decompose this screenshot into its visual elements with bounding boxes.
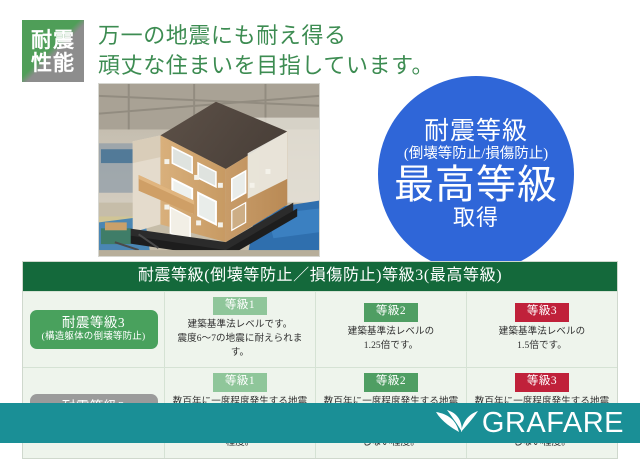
grade-desc-line-1: 建築基準法レベルの [499, 326, 585, 340]
grade-tag: 等級1 [213, 373, 267, 392]
grade-description: 建築基準法レベルの 1.25倍です。 [348, 326, 434, 354]
row-label-line-1: 耐震等級3 [32, 315, 156, 331]
house-test-photo-image [99, 84, 319, 256]
grade-desc-line-1: 建築基準法レベルの [348, 326, 434, 340]
page-root: 耐震 性能 万一の地震にも耐え得る 頑丈な住まいを目指しています。 [0, 0, 640, 443]
top-grade-line-3: 最高等級 [394, 164, 558, 206]
header: 耐震 性能 万一の地震にも耐え得る 頑丈な住まいを目指しています。 [22, 20, 434, 82]
grafare-wing-leaf-icon [434, 408, 480, 438]
grade-tag: 等級1 [213, 297, 267, 316]
brand-logo: GRAFARE [434, 408, 624, 438]
section-badge-line1: 耐震 [31, 29, 75, 52]
brand-name: GRAFARE [482, 409, 624, 438]
table-row: 耐震等級3 (構造躯体の倒壊等防止) 等級1 建築基準法レベルです。 震度6～7… [23, 291, 617, 368]
grade-tag: 等級3 [515, 373, 569, 392]
page-title: 万一の地震にも耐え得る 頑丈な住まいを目指しています。 [98, 20, 434, 80]
grade-desc-line-1: 建築基準法レベルです。 [169, 319, 311, 333]
grade-desc-line-2: 1.25倍です。 [348, 340, 434, 354]
top-grade-line-4: 取得 [453, 207, 499, 229]
grade-tag: 等級2 [364, 303, 418, 322]
row-label-pill: 耐震等級3 (構造躯体の倒壊等防止) [30, 310, 158, 348]
row-label-cell: 耐震等級3 (構造躯体の倒壊等防止) [23, 292, 165, 368]
top-grade-line-1: 耐震等級 [424, 119, 528, 144]
top-grade-badge: 耐震等級 (倒壊等防止/損傷防止) 最高等級 取得 [378, 76, 574, 272]
table-title: 耐震等級(倒壊等防止／損傷防止)等級3(最高等級) [23, 262, 617, 291]
grade-desc-line-2: 1.5倍です。 [499, 340, 585, 354]
grade-tag: 等級2 [364, 373, 418, 392]
headline-line-1: 万一の地震にも耐え得る [98, 21, 434, 51]
section-badge-line2: 性能 [31, 52, 75, 75]
grade-desc-line-2: 震度6～7の地震に耐えられます。 [169, 333, 311, 361]
headline-line-2: 頑丈な住まいを目指しています。 [98, 51, 434, 81]
grade-cell-2: 等級2 建築基準法レベルの 1.25倍です。 [316, 292, 467, 368]
grade-description: 建築基準法レベルの 1.5倍です。 [499, 326, 585, 354]
row-label-line-2: (構造躯体の倒壊等防止) [32, 332, 156, 343]
section-badge: 耐震 性能 [22, 20, 84, 82]
grade-description: 建築基準法レベルです。 震度6～7の地震に耐えられます。 [169, 319, 311, 360]
grade-cell-3: 等級3 建築基準法レベルの 1.5倍です。 [467, 292, 617, 368]
top-grade-line-2: (倒壊等防止/損傷防止) [404, 147, 548, 162]
grade-cell-1: 等級1 建築基準法レベルです。 震度6～7の地震に耐えられます。 [165, 292, 316, 368]
footer-bar: GRAFARE [0, 403, 640, 443]
house-test-photo [98, 83, 320, 257]
grade-tag: 等級3 [515, 303, 569, 322]
